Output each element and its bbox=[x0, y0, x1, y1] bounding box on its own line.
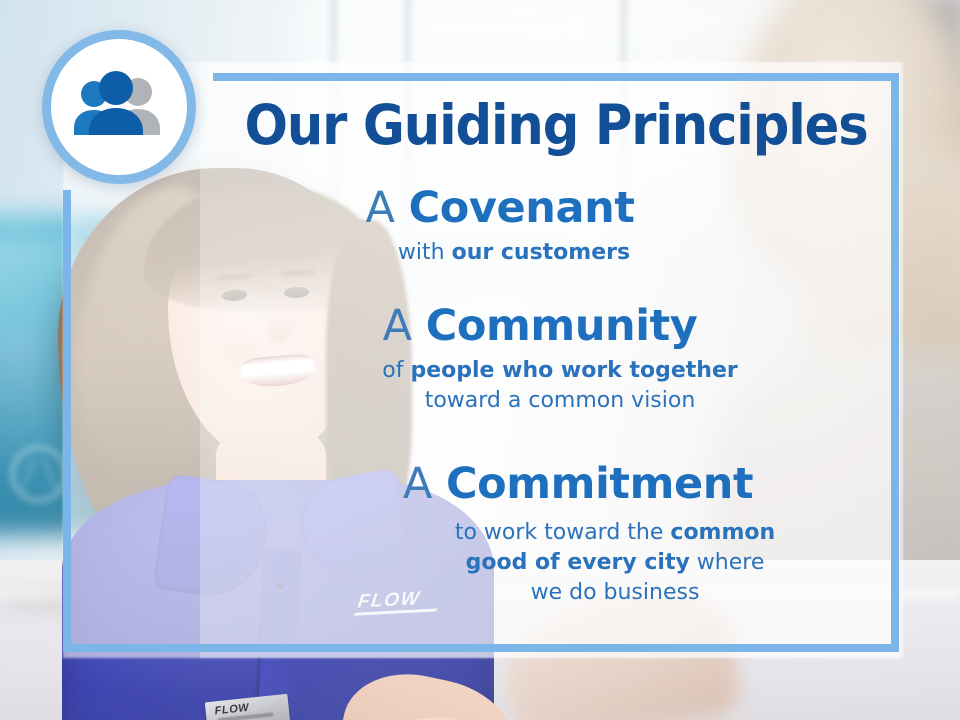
window-mullion bbox=[620, 0, 627, 240]
principles-graphic: FLOW FLOW bbox=[0, 0, 960, 720]
people-group-icon bbox=[67, 70, 171, 144]
subject-woman: FLOW FLOW bbox=[40, 150, 510, 720]
people-group-badge bbox=[42, 30, 196, 184]
frame-top-border bbox=[213, 73, 899, 81]
polo-chest-logo: FLOW bbox=[356, 588, 421, 613]
nose bbox=[266, 310, 292, 344]
frame-left-border bbox=[63, 190, 71, 652]
frame-right-border bbox=[891, 73, 899, 652]
frame-bottom-border bbox=[63, 644, 899, 652]
